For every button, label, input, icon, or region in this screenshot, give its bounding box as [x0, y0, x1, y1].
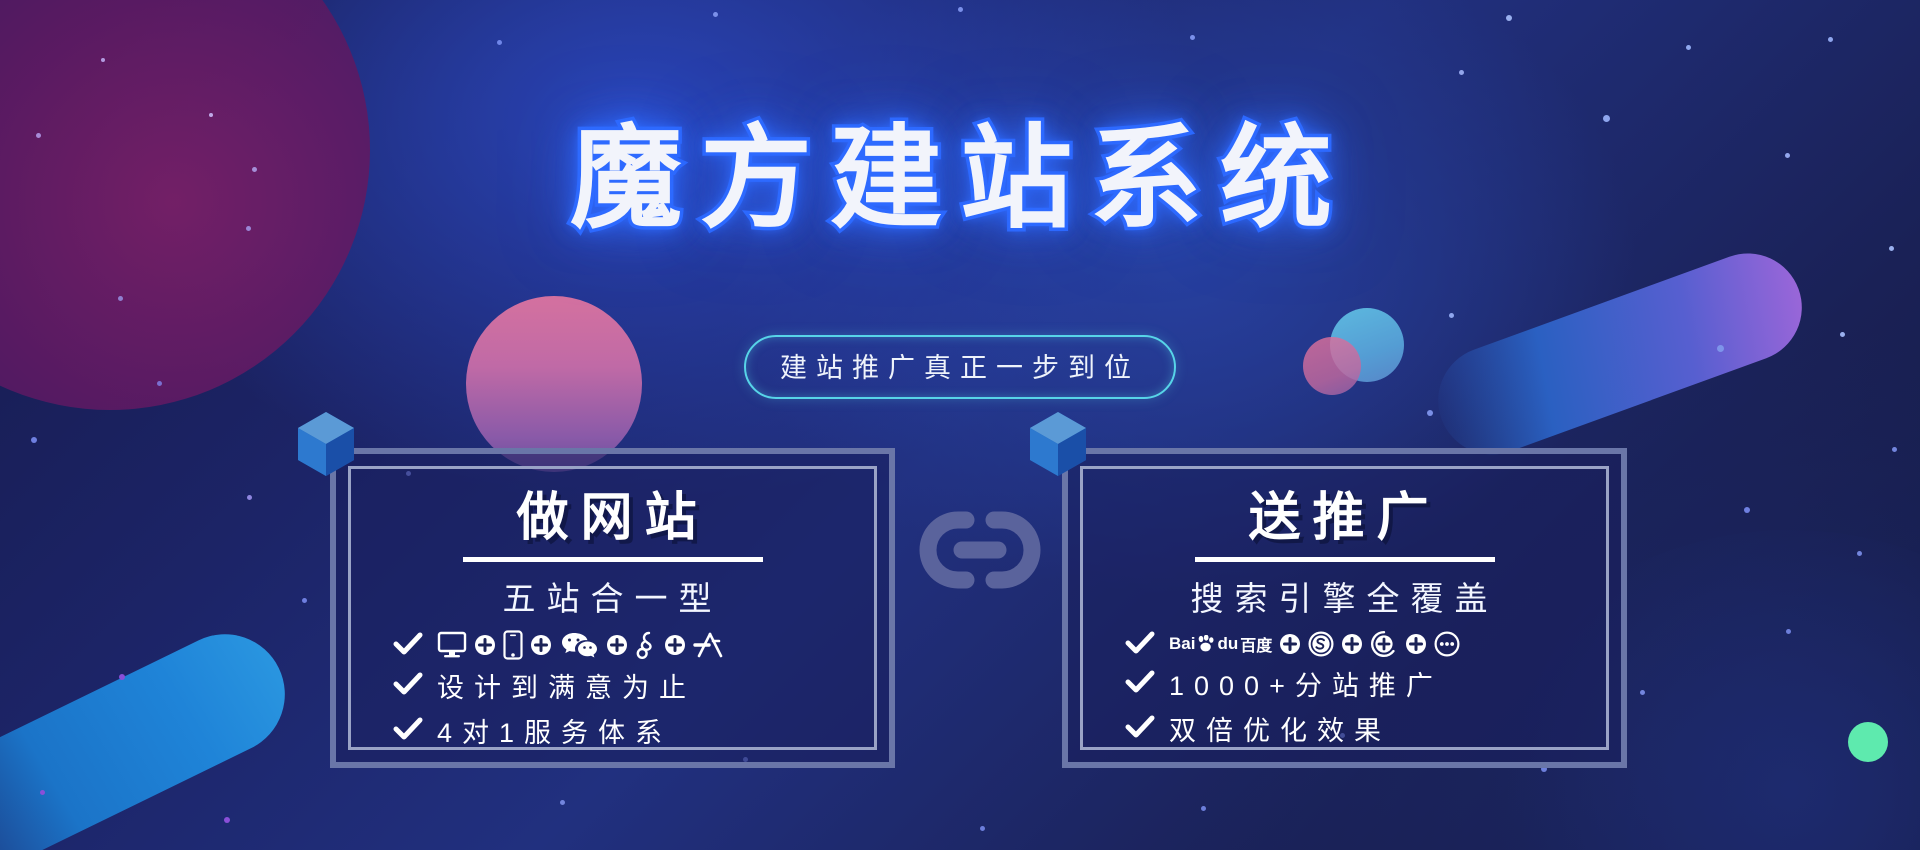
star-dot [1686, 45, 1691, 50]
comet-streak-right-decor [1423, 238, 1817, 469]
feature-icon-row: Bai du 百度 [1083, 630, 1606, 658]
plus-circle-icon [474, 634, 496, 656]
check-icon [393, 717, 423, 743]
star-dot [224, 817, 230, 823]
star-dot [1717, 345, 1724, 352]
platform-icons [437, 630, 727, 660]
baidu-suffix: du [1217, 634, 1238, 654]
plus-circle-icon [606, 634, 628, 656]
feature-label: 双倍优化效果 [1169, 709, 1391, 748]
feature-icon-row [351, 630, 874, 660]
star-dot [118, 296, 123, 301]
mobile-icon [503, 630, 523, 660]
plus-circle-icon [1405, 633, 1427, 655]
more-ellipsis-icon [1434, 631, 1460, 657]
panel-subtitle: 搜索引擎全覆盖 [1083, 572, 1606, 620]
search-engine-icons: Bai du 百度 [1169, 630, 1460, 658]
check-icon [393, 672, 423, 698]
feature-row: 1000+分站推广 [1083, 664, 1606, 703]
star-dot [560, 800, 565, 805]
feature-label: 1000+分站推广 [1169, 664, 1443, 703]
divider [463, 557, 763, 562]
check-icon [1125, 715, 1155, 741]
star-dot [958, 7, 963, 12]
feature-label: 4对1服务体系 [437, 711, 672, 750]
star-dot [1190, 35, 1195, 40]
divider [1195, 557, 1495, 562]
monitor-icon [437, 631, 467, 659]
baidu-latin: Bai [1169, 634, 1195, 654]
main-title: 魔方建站系统 [570, 88, 1350, 250]
star-dot [1828, 37, 1833, 42]
star-dot [497, 40, 502, 45]
pink-sphere-decor [466, 296, 642, 472]
star-dot [1449, 313, 1454, 318]
star-dot [101, 58, 105, 62]
feature-label: 设计到满意为止 [437, 666, 696, 705]
promo-banner: 魔方建站系统 建站推广真正一步到位 做网站 五站合一型 [0, 0, 1920, 850]
panel-subtitle: 五站合一型 [351, 572, 874, 620]
star-dot [713, 12, 718, 17]
360-search-icon [1370, 630, 1398, 658]
plus-circle-icon [1341, 633, 1363, 655]
plus-circle-icon [530, 634, 552, 656]
baidu-paw-icon [1197, 635, 1215, 652]
baidu-chinese: 百度 [1240, 632, 1272, 656]
title-block: 魔方建站系统 [0, 88, 1920, 250]
baidu-logo-icon: Bai du 百度 [1169, 632, 1272, 656]
check-icon [1125, 670, 1155, 696]
star-dot [1506, 15, 1512, 21]
wechat-icon [559, 630, 599, 660]
panel-make-website[interactable]: 做网站 五站合一型 [330, 448, 895, 768]
sogou-icon [1308, 631, 1334, 657]
subtitle-pill: 建站推广真正一步到位 [744, 335, 1176, 399]
qq-music-icon [635, 630, 657, 660]
feature-row: 设计到满意为止 [351, 666, 874, 705]
check-icon [1125, 631, 1155, 657]
panels-row: 做网站 五站合一型 [0, 448, 1920, 778]
star-dot [40, 790, 45, 795]
plus-circle-icon [664, 634, 686, 656]
panel-title: 做网站 [351, 489, 874, 549]
check-icon [393, 632, 423, 658]
feature-row: 4对1服务体系 [351, 711, 874, 750]
star-dot [1201, 806, 1206, 811]
panel-free-promotion[interactable]: 送推广 搜索引擎全覆盖 Bai [1062, 448, 1627, 768]
plus-circle-icon [1279, 633, 1301, 655]
star-dot [31, 437, 37, 443]
star-dot [1459, 70, 1464, 75]
cyan-sphere-decor [1330, 308, 1404, 382]
panel-title: 送推广 [1083, 489, 1606, 549]
star-dot [980, 826, 985, 831]
star-dot [1427, 410, 1433, 416]
star-dot [1840, 332, 1845, 337]
rose-sphere-decor [1303, 337, 1361, 395]
star-dot [157, 381, 162, 386]
app-store-icon [693, 631, 727, 659]
feature-row: 双倍优化效果 [1083, 709, 1606, 748]
chain-link-icon [916, 490, 1044, 618]
